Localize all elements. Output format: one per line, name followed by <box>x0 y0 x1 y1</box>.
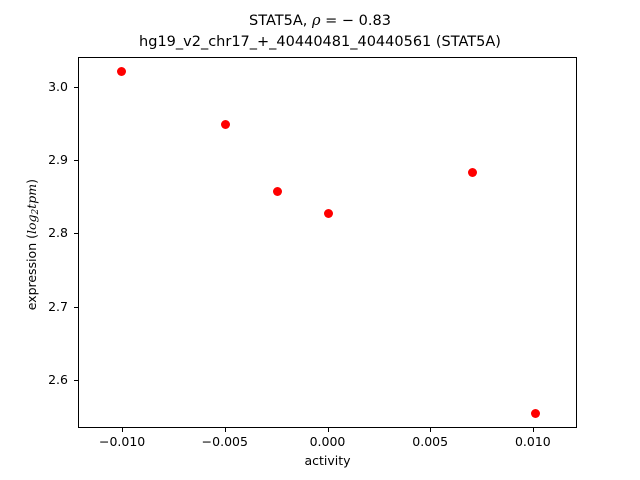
y-axis-label-subscript: 2 <box>31 209 41 215</box>
chart-title-equals: = <box>321 13 342 29</box>
y-axis-tick <box>74 380 78 381</box>
rho-symbol: ρ <box>312 13 321 29</box>
chart-title: STAT5A, ρ = − 0.83 hg19_v2_chr17_+_40440… <box>0 11 640 53</box>
scatter-point <box>221 120 230 129</box>
y-axis-tick <box>74 87 78 88</box>
plot-area <box>78 57 577 428</box>
x-axis-tick <box>225 428 226 432</box>
y-axis-label-tpm: tpm <box>24 184 39 209</box>
scatter-point <box>531 409 540 418</box>
scatter-point <box>468 168 477 177</box>
y-axis-tick-label: 2.7 <box>8 299 68 314</box>
chart-title-line-2: hg19_v2_chr17_+_40440481_40440561 (STAT5… <box>0 32 640 53</box>
chart-title-gene: STAT5A <box>249 13 303 29</box>
scatter-point <box>273 187 282 196</box>
scatter-point <box>324 209 333 218</box>
x-axis-tick <box>430 428 431 432</box>
x-axis-tick-label: 0.000 <box>283 434 373 449</box>
x-axis-tick-label: −0.010 <box>77 434 167 449</box>
x-axis-tick-label: 0.010 <box>488 434 578 449</box>
x-axis-tick-label: 0.005 <box>385 434 475 449</box>
y-axis-tick <box>74 307 78 308</box>
scatter-point <box>117 67 126 76</box>
y-axis-tick <box>74 160 78 161</box>
x-axis-tick <box>533 428 534 432</box>
y-axis-label-suffix: ) <box>24 179 39 184</box>
y-axis-tick <box>74 233 78 234</box>
x-axis-tick <box>328 428 329 432</box>
x-axis-tick <box>122 428 123 432</box>
x-axis-tick-label: −0.005 <box>180 434 270 449</box>
chart-title-comma: , <box>303 13 312 29</box>
chart-title-rho-value: − 0.83 <box>342 13 391 29</box>
y-axis-tick-label: 3.0 <box>8 79 68 94</box>
y-axis-tick-label: 2.8 <box>8 225 68 240</box>
scatter-plot-figure: STAT5A, ρ = − 0.83 hg19_v2_chr17_+_40440… <box>0 0 640 480</box>
x-axis-label: activity <box>78 453 577 468</box>
y-axis-tick-label: 2.9 <box>8 152 68 167</box>
y-axis-tick-label: 2.6 <box>8 372 68 387</box>
chart-title-line-1: STAT5A, ρ = − 0.83 <box>0 11 640 32</box>
